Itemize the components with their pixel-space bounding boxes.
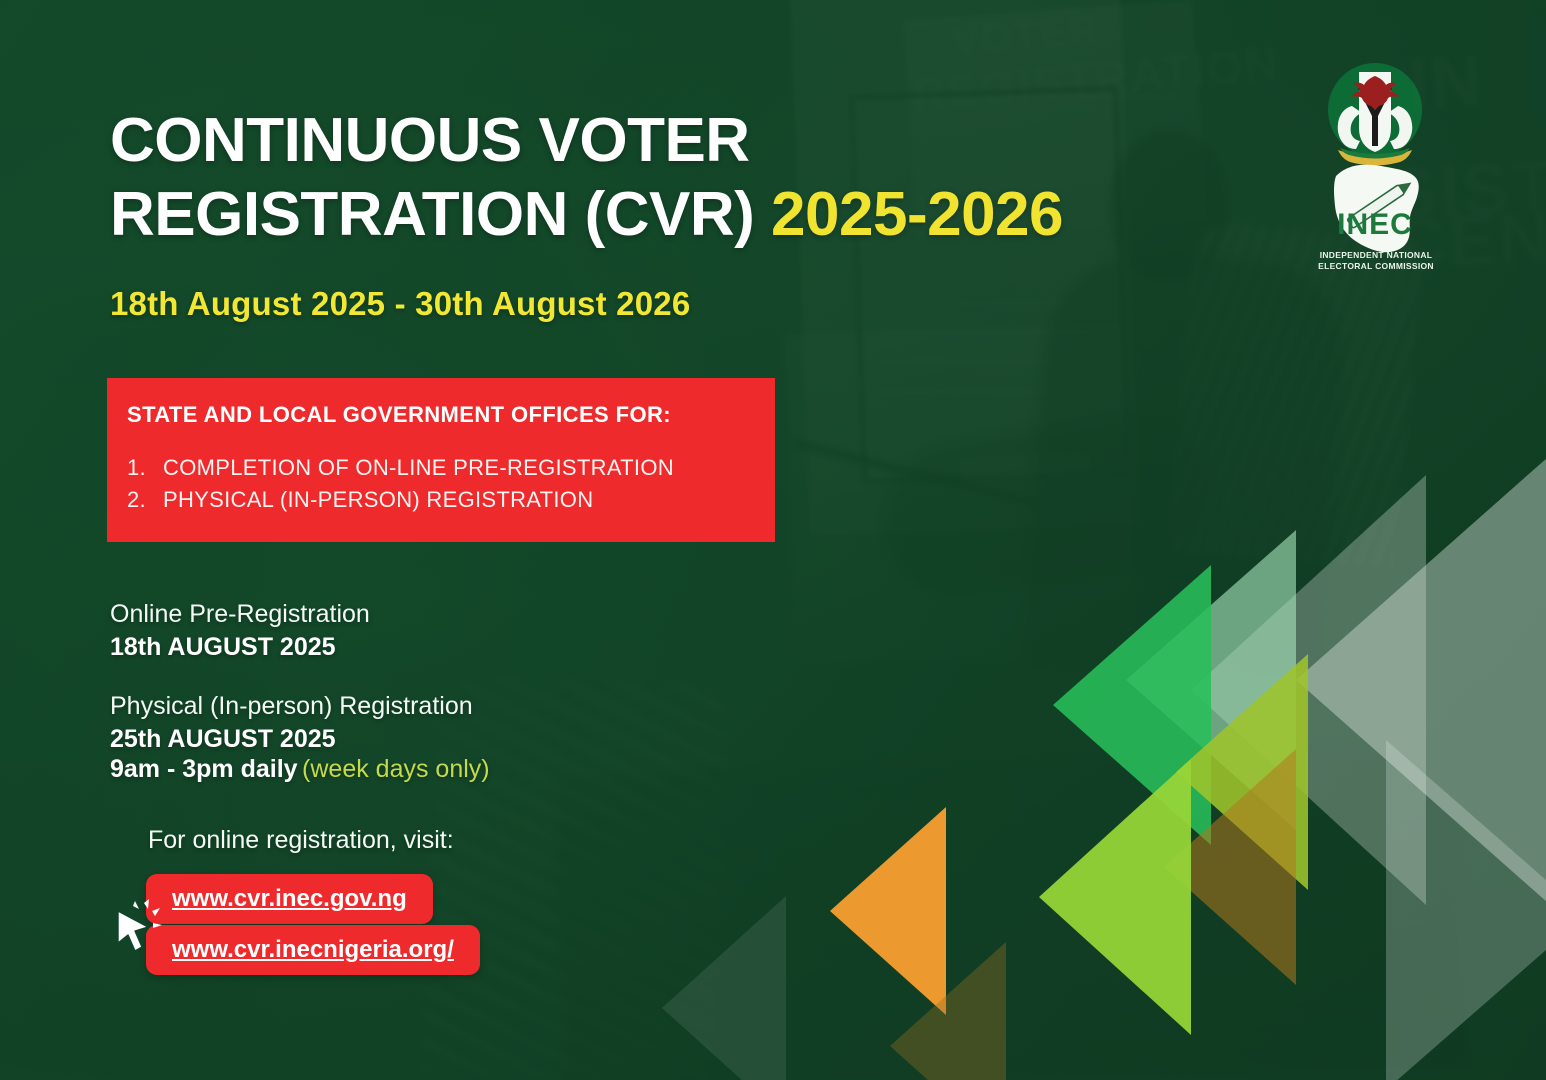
visit-label: For online registration, visit: <box>148 826 454 855</box>
poster-content: CONTINUOUS VOTER REGISTRATION (CVR) 2025… <box>0 0 1546 1080</box>
inec-caption-line-2: ELECTORAL COMMISSION <box>1296 261 1456 272</box>
list-item-text: COMPLETION OF ON-LINE PRE-REGISTRATION <box>163 452 674 484</box>
opening-hours: 9am - 3pm daily (week days only) <box>110 755 490 784</box>
list-item-number: 2. <box>127 484 163 516</box>
opening-hours-note: (week days only) <box>302 755 490 783</box>
url-button-inecnigeria-org[interactable]: www.cvr.inecnigeria.org/ <box>146 925 480 975</box>
list-item: 1. COMPLETION OF ON-LINE PRE-REGISTRATIO… <box>127 452 753 484</box>
list-item-number: 1. <box>127 452 163 484</box>
list-item-text: PHYSICAL (IN-PERSON) REGISTRATION <box>163 484 593 516</box>
cvr-poster: VOTER REGISTRATION IN GIST CEN <box>0 0 1546 1080</box>
schedule-date: 18th AUGUST 2025 <box>110 631 473 664</box>
headline-years: 2025-2026 <box>771 180 1063 249</box>
date-range: 18th August 2025 - 30th August 2026 <box>110 285 690 323</box>
list-item: 2. PHYSICAL (IN-PERSON) REGISTRATION <box>127 484 753 516</box>
inec-logo-caption: INDEPENDENT NATIONAL ELECTORAL COMMISSIO… <box>1296 250 1456 272</box>
page-title: CONTINUOUS VOTER REGISTRATION (CVR) 2025… <box>110 104 1190 252</box>
mouse-cursor-click-icon <box>108 897 164 963</box>
headline-line-2: REGISTRATION (CVR) 2025-2026 <box>110 178 1190 252</box>
url-button-inec-gov-ng[interactable]: www.cvr.inec.gov.ng <box>146 874 433 924</box>
headline-line-2-text: REGISTRATION (CVR) <box>110 180 754 249</box>
schedule-label: Online Pre-Registration <box>110 598 473 631</box>
headline-line-1: CONTINUOUS VOTER <box>110 104 1190 178</box>
inec-caption-line-1: INDEPENDENT NATIONAL <box>1296 250 1456 261</box>
offices-callout-list: 1. COMPLETION OF ON-LINE PRE-REGISTRATIO… <box>127 452 753 516</box>
schedule-date: 25th AUGUST 2025 <box>110 723 473 756</box>
inec-wordmark: INEC <box>1337 208 1413 241</box>
offices-callout-box: STATE AND LOCAL GOVERNMENT OFFICES FOR: … <box>107 378 775 542</box>
offices-callout-title: STATE AND LOCAL GOVERNMENT OFFICES FOR: <box>127 402 753 428</box>
schedule-label: Physical (In-person) Registration <box>110 690 473 723</box>
schedule-entry-online: Online Pre-Registration 18th AUGUST 2025 <box>110 598 473 664</box>
opening-hours-main: 9am - 3pm daily <box>110 755 298 783</box>
schedule-entry-physical: Physical (In-person) Registration 25th A… <box>110 690 473 756</box>
